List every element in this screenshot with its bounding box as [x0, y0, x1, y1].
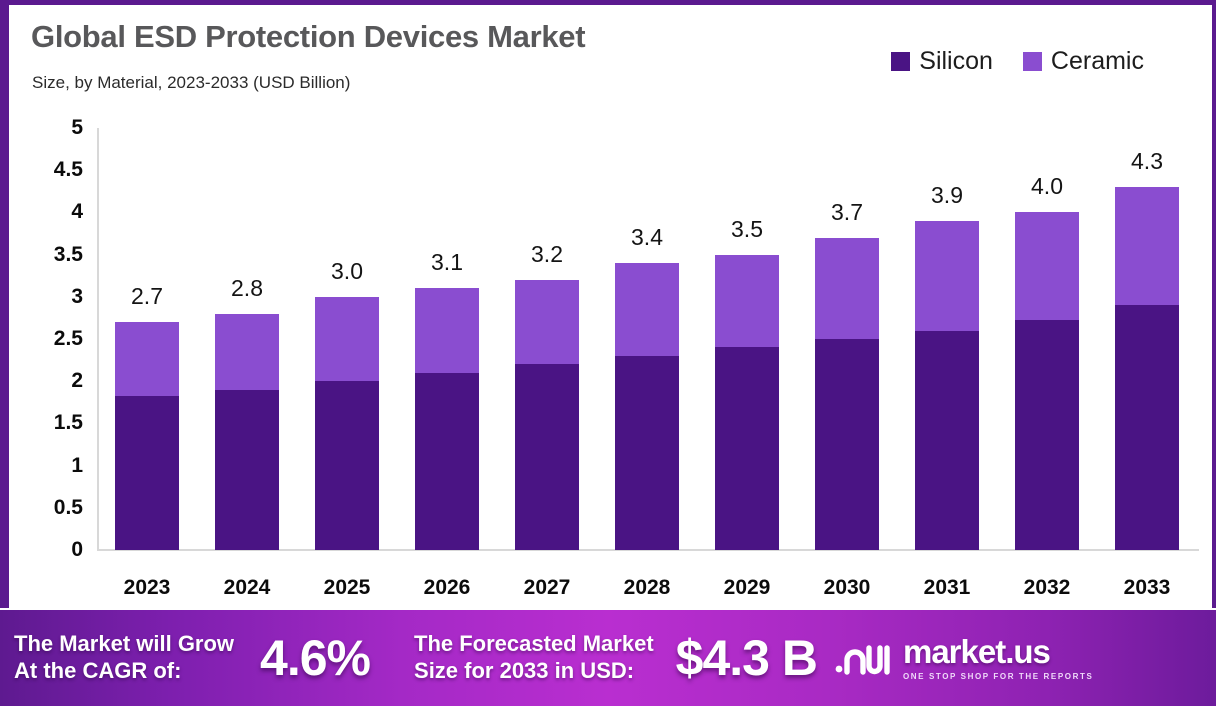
bar-segment-ceramic[interactable] [1015, 212, 1079, 320]
bar-segment-ceramic[interactable] [315, 297, 379, 381]
bar-segment-silicon[interactable] [215, 390, 279, 550]
x-axis-tick-label: 2031 [924, 576, 971, 600]
stacked-bar[interactable] [515, 280, 579, 550]
stacked-bar[interactable] [115, 322, 179, 550]
x-axis-tick-label: 2027 [524, 576, 571, 600]
bar-group-2030[interactable]: 3.72030 [797, 128, 897, 550]
brand-name: market.us [903, 635, 1093, 668]
x-axis-tick-label: 2023 [124, 576, 171, 600]
bar-value-label: 2.8 [231, 275, 263, 302]
bar-group-2026[interactable]: 3.12026 [397, 128, 497, 550]
x-axis-tick-label: 2029 [724, 576, 771, 600]
bar-group-2032[interactable]: 4.02032 [997, 128, 1097, 550]
cagr-value: 4.6% [260, 629, 370, 687]
forecast-size-value: $4.3 B [676, 629, 817, 687]
stacked-bar[interactable] [1115, 187, 1179, 550]
forecast-size-caption: The Forecasted Market Size for 2033 in U… [414, 631, 654, 685]
legend-label: Silicon [919, 47, 993, 76]
square-swatch-icon [891, 52, 910, 71]
y-axis-tick-label: 2.5 [54, 327, 83, 351]
bar-group-2031[interactable]: 3.92031 [897, 128, 997, 550]
bar-segment-ceramic[interactable] [715, 255, 779, 348]
bar-value-label: 3.5 [731, 216, 763, 243]
bar-group-2033[interactable]: 4.32033 [1097, 128, 1197, 550]
bar-group-2025[interactable]: 3.02025 [297, 128, 397, 550]
bar-segment-silicon[interactable] [815, 339, 879, 550]
stacked-bar[interactable] [315, 297, 379, 550]
bar-value-label: 3.7 [831, 199, 863, 226]
left-border-accent [0, 0, 9, 608]
y-axis-tick-label: 3 [71, 285, 83, 309]
bar-group-2028[interactable]: 3.42028 [597, 128, 697, 550]
brand-tagline: ONE STOP SHOP FOR THE REPORTS [903, 672, 1093, 681]
bar-segment-silicon[interactable] [1015, 320, 1079, 550]
x-axis-tick-label: 2030 [824, 576, 871, 600]
bar-value-label: 4.0 [1031, 173, 1063, 200]
bar-value-label: 3.4 [631, 224, 663, 251]
stacked-bar[interactable] [815, 238, 879, 550]
footer-banner: The Market will Grow At the CAGR of: 4.6… [0, 610, 1216, 706]
bar-segment-ceramic[interactable] [1115, 187, 1179, 305]
plot-area: 2.720232.820243.020253.120263.220273.420… [97, 128, 1197, 550]
y-axis-tick-label: 5 [71, 116, 83, 140]
x-axis-tick-label: 2026 [424, 576, 471, 600]
bar-value-label: 3.0 [331, 258, 363, 285]
bar-value-label: 2.7 [131, 283, 163, 310]
bar-group-2023[interactable]: 2.72023 [97, 128, 197, 550]
bar-segment-silicon[interactable] [715, 347, 779, 550]
chart-subtitle: Size, by Material, 2023-2033 (USD Billio… [32, 73, 350, 93]
bar-segment-ceramic[interactable] [615, 263, 679, 356]
bar-segment-ceramic[interactable] [215, 314, 279, 390]
x-axis-tick-label: 2025 [324, 576, 371, 600]
stacked-bar[interactable] [415, 288, 479, 550]
bar-segment-silicon[interactable] [1115, 305, 1179, 550]
stacked-bar[interactable] [715, 255, 779, 550]
y-axis-tick-label: 4.5 [54, 158, 83, 182]
bar-segment-silicon[interactable] [915, 331, 979, 550]
x-axis-tick-label: 2033 [1124, 576, 1171, 600]
square-swatch-icon [1023, 52, 1042, 71]
stacked-bar[interactable] [1015, 212, 1079, 550]
right-border-accent [1212, 0, 1216, 608]
legend-item-ceramic[interactable]: Ceramic [1023, 47, 1144, 76]
chart-infographic: Global ESD Protection Devices Market Siz… [0, 0, 1216, 706]
bar-segment-ceramic[interactable] [815, 238, 879, 339]
legend-label: Ceramic [1051, 47, 1144, 76]
y-axis-tick-label: 4 [71, 200, 83, 224]
brand-logo[interactable]: market.us ONE STOP SHOP FOR THE REPORTS [833, 635, 1093, 681]
y-axis-tick-label: 0.5 [54, 496, 83, 520]
y-axis-tick-label: 2 [71, 369, 83, 393]
bar-segment-silicon[interactable] [615, 356, 679, 550]
legend-item-silicon[interactable]: Silicon [891, 47, 993, 76]
bar-segment-ceramic[interactable] [515, 280, 579, 364]
bar-group-2024[interactable]: 2.82024 [197, 128, 297, 550]
x-axis-tick-label: 2024 [224, 576, 271, 600]
bar-segment-ceramic[interactable] [915, 221, 979, 331]
market-us-logo-mark [833, 636, 895, 680]
bar-group-2029[interactable]: 3.52029 [697, 128, 797, 550]
chart-title: Global ESD Protection Devices Market [31, 19, 585, 55]
bar-value-label: 3.2 [531, 241, 563, 268]
bar-segment-ceramic[interactable] [115, 322, 179, 395]
y-axis-tick-label: 1 [71, 454, 83, 478]
bar-segment-silicon[interactable] [115, 396, 179, 550]
brand-text: market.us ONE STOP SHOP FOR THE REPORTS [903, 635, 1093, 681]
x-axis-tick-label: 2028 [624, 576, 671, 600]
bar-group-2027[interactable]: 3.22027 [497, 128, 597, 550]
chart-card: Global ESD Protection Devices Market Siz… [9, 5, 1212, 608]
forecast-size-block: The Forecasted Market Size for 2033 in U… [370, 629, 817, 687]
bar-segment-silicon[interactable] [315, 381, 379, 550]
y-axis-tick-label: 0 [71, 538, 83, 562]
bar-series-group: 2.720232.820243.020253.120263.220273.420… [97, 128, 1197, 550]
bar-segment-silicon[interactable] [515, 364, 579, 550]
stacked-bar[interactable] [615, 263, 679, 550]
y-axis-tick-label: 3.5 [54, 243, 83, 267]
chart-legend: SiliconCeramic [891, 47, 1144, 76]
bar-value-label: 4.3 [1131, 148, 1163, 175]
cagr-caption: The Market will Grow At the CAGR of: [14, 631, 234, 685]
cagr-block: The Market will Grow At the CAGR of: 4.6… [0, 629, 370, 687]
bar-segment-silicon[interactable] [415, 373, 479, 550]
stacked-bar[interactable] [915, 221, 979, 550]
bar-value-label: 3.1 [431, 249, 463, 276]
stacked-bar[interactable] [215, 314, 279, 550]
x-axis-tick-label: 2032 [1024, 576, 1071, 600]
y-axis-tick-label: 1.5 [54, 411, 83, 435]
bar-segment-ceramic[interactable] [415, 288, 479, 372]
bar-value-label: 3.9 [931, 182, 963, 209]
